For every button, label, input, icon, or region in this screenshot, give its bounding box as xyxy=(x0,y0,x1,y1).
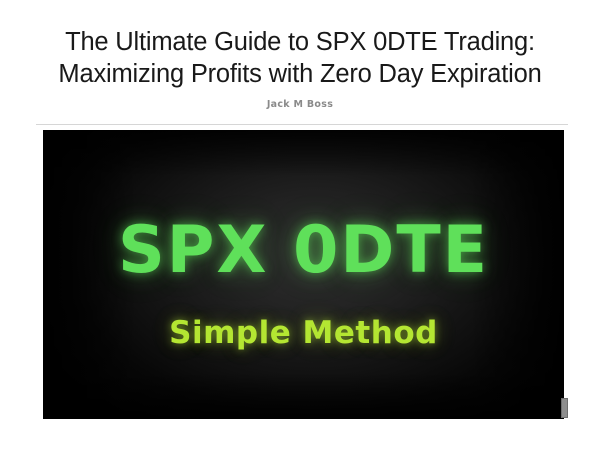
page-title-line-1: The Ultimate Guide to SPX 0DTE Trading: xyxy=(16,26,584,58)
cover-image[interactable]: SPX 0DTE Simple Method xyxy=(43,130,564,419)
page-title-line-2: Maximizing Profits with Zero Day Expirat… xyxy=(16,58,584,90)
title-block: The Ultimate Guide to SPX 0DTE Trading: … xyxy=(0,26,600,110)
cover-text-wrap: SPX 0DTE Simple Method xyxy=(43,130,564,419)
image-resize-handle[interactable] xyxy=(561,398,568,418)
title-divider xyxy=(36,124,568,125)
cover-headline: SPX 0DTE xyxy=(43,216,564,286)
page-title: The Ultimate Guide to SPX 0DTE Trading: … xyxy=(0,26,600,90)
cover-subhead: Simple Method xyxy=(43,314,564,352)
document-page: The Ultimate Guide to SPX 0DTE Trading: … xyxy=(0,0,600,455)
author-byline: Jack M Boss xyxy=(0,99,600,110)
